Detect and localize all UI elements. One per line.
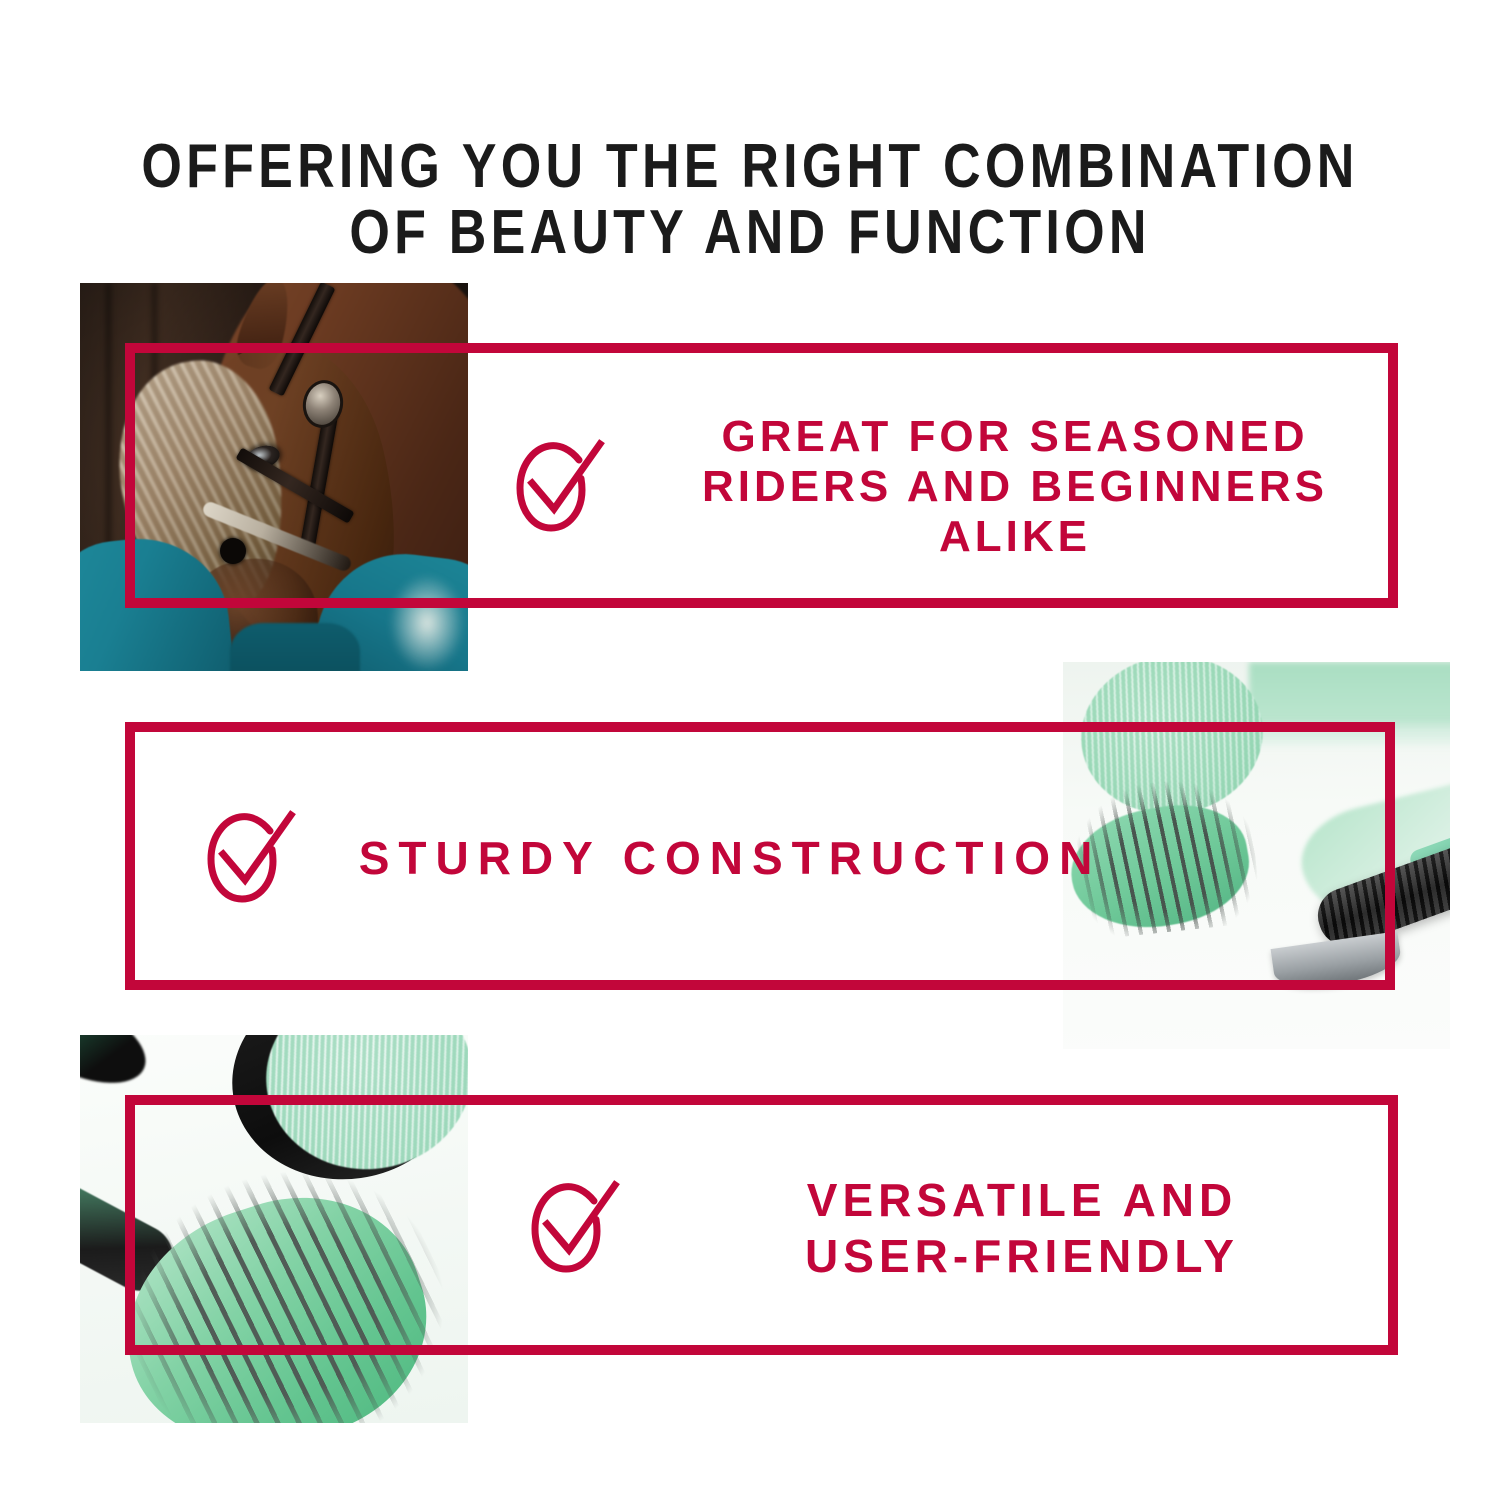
headline-line-1: Offering You The Right Combination (120, 134, 1380, 200)
circle-check-icon (505, 435, 609, 539)
feature-label-sturdy-construction: Sturdy Construction (330, 833, 1130, 883)
feature-infographic-poster: Offering You The Right Combination Of Be… (0, 0, 1500, 1500)
feature-label-seasoned-riders: Great For Seasoned Riders And Beginners … (665, 412, 1365, 562)
circle-check-icon (196, 806, 300, 910)
feature-item-seasoned-riders: Great For Seasoned Riders And Beginners … (505, 412, 1365, 562)
headline-line-2: Of Beauty And Function (120, 200, 1380, 266)
feature-item-versatile-user-friendly: Versatile And User-Friendly (520, 1172, 1360, 1284)
feature-item-sturdy-construction: Sturdy Construction (196, 806, 1196, 910)
page-title: Offering You The Right Combination Of Be… (0, 134, 1500, 266)
circle-check-icon (520, 1176, 624, 1280)
feature-label-versatile-user-friendly: Versatile And User-Friendly (684, 1172, 1360, 1284)
